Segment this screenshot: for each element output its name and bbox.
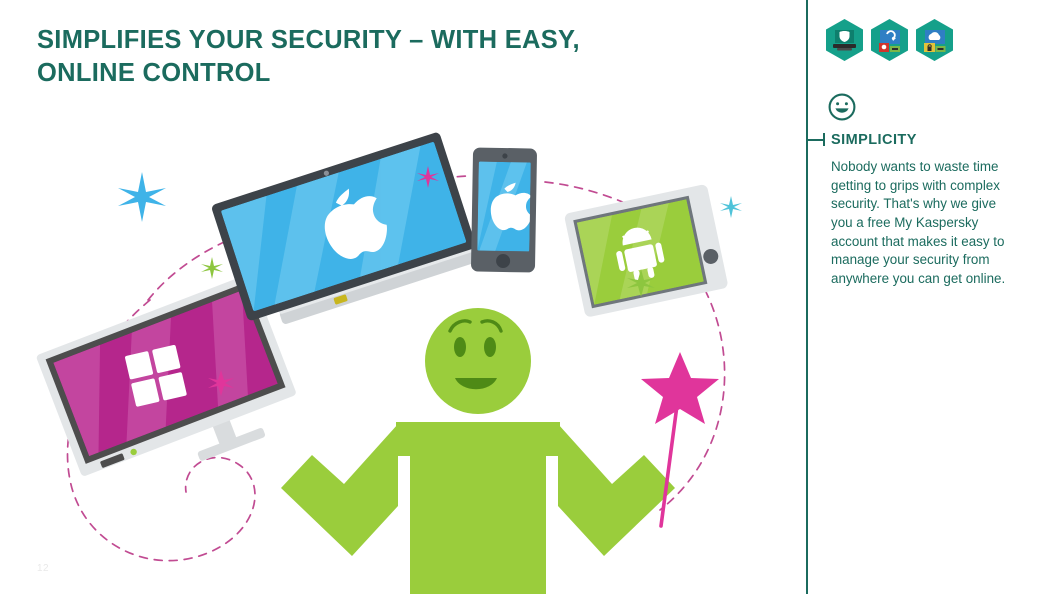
- tick-vertical: [823, 133, 825, 146]
- cloud-lock-icon: [916, 19, 953, 61]
- page-number: 12: [37, 563, 49, 574]
- green-stick-figure: [281, 308, 675, 594]
- tick-marker: [808, 133, 825, 146]
- smartphone-iphone-apple: [471, 147, 537, 272]
- sparkle-blue-large: [118, 172, 166, 222]
- hex-badge-row: [826, 19, 953, 61]
- sparkle-green-small: [201, 257, 223, 279]
- sparkle-cyan-small: [720, 196, 742, 218]
- monitor-sync-icon: [871, 19, 908, 61]
- tablet-android: [564, 184, 729, 318]
- panel-title: SIMPLICITY: [831, 132, 917, 148]
- hex-badge-monitor-sync[interactable]: [871, 19, 908, 61]
- five-point-star: [641, 352, 719, 424]
- panel-divider: [806, 0, 808, 594]
- multi-device-juggling-illustration: [0, 0, 806, 594]
- laptop-shield-icon: [826, 19, 863, 61]
- hex-badge-laptop-shield[interactable]: [826, 19, 863, 61]
- panel-body-text: Nobody wants to waste time getting to gr…: [831, 158, 1009, 288]
- slide-canvas: SIMPLIFIES YOUR SECURITY – WITH EASY, ON…: [0, 0, 1055, 594]
- laptop-macbook-apple: [211, 122, 512, 335]
- smiley-face-icon: [828, 93, 856, 121]
- hex-badge-cloud-lock[interactable]: [916, 19, 953, 61]
